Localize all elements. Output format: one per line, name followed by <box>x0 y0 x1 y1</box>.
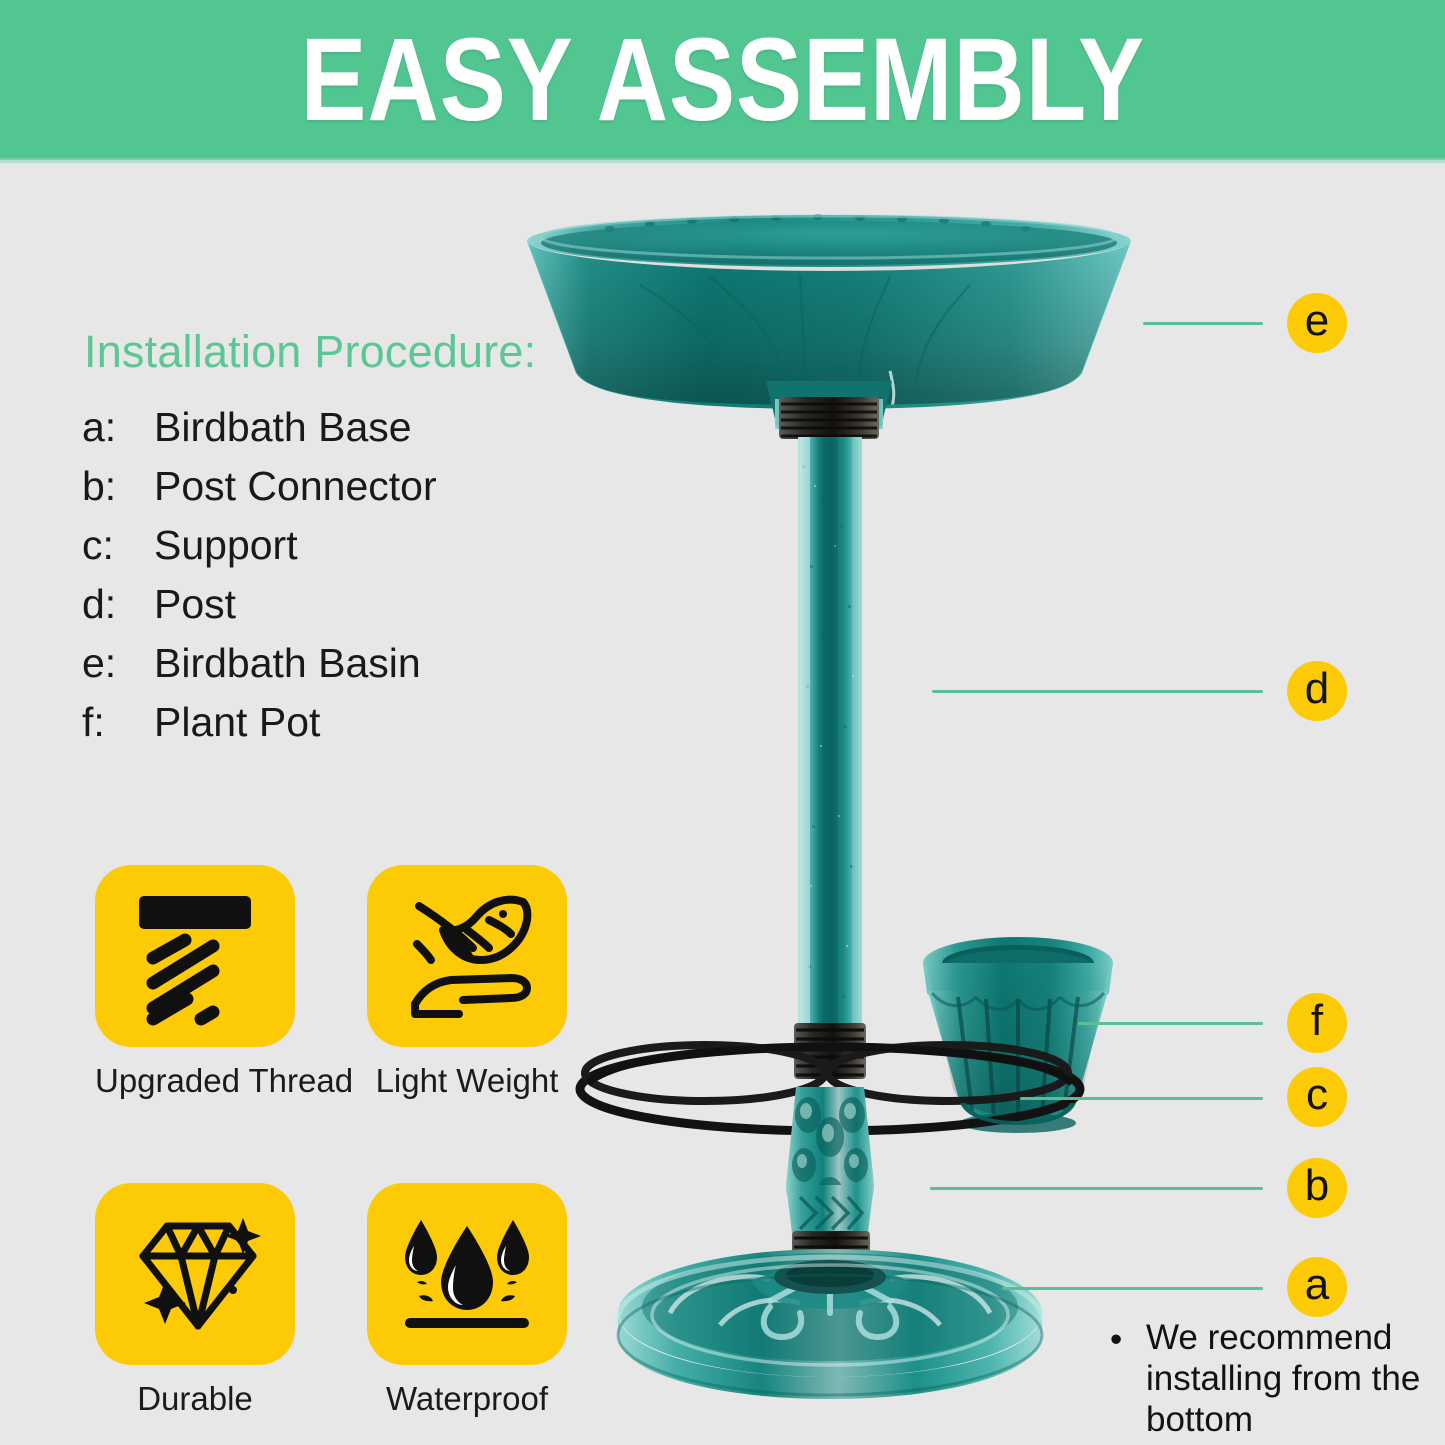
callout-badge-e[interactable]: e <box>1287 293 1347 353</box>
callout-line-f <box>1078 1022 1263 1025</box>
feature-label: Durable <box>95 1380 295 1418</box>
procedure-key: d: <box>82 581 154 628</box>
infographic-canvas: EASY ASSEMBLY Installation Procedure: a:… <box>0 0 1445 1445</box>
callout-line-a <box>1002 1287 1263 1290</box>
callout-line-d <box>932 690 1263 693</box>
product-illustration <box>470 185 1190 1400</box>
procedure-key: b: <box>82 463 154 510</box>
installation-procedure-heading: Installation Procedure: <box>84 326 536 378</box>
procedure-key: e: <box>82 640 154 687</box>
callout-line-c <box>1020 1097 1263 1100</box>
callout-line-e <box>1143 322 1263 325</box>
recommendation-note: • We recommend installing from the botto… <box>1110 1318 1430 1441</box>
feature-durable: Durable <box>95 1183 295 1418</box>
screw-thread-icon <box>125 886 265 1026</box>
header-banner: EASY ASSEMBLY <box>0 0 1445 160</box>
callout-badge-a[interactable]: a <box>1287 1257 1347 1317</box>
feature-upgraded-thread: Upgraded Thread <box>95 865 295 1100</box>
diamond-icon <box>125 1204 265 1344</box>
feature-label: Upgraded Thread <box>95 1062 295 1100</box>
callout-badge-c[interactable]: c <box>1287 1067 1347 1127</box>
bullet-icon: • <box>1110 1320 1122 1361</box>
callout-line-b <box>930 1187 1263 1190</box>
procedure-label: Birdbath Basin <box>154 640 421 687</box>
procedure-key: c: <box>82 522 154 569</box>
callout-badge-d[interactable]: d <box>1287 661 1347 721</box>
procedure-label: Plant Pot <box>154 699 320 746</box>
callout-badge-b[interactable]: b <box>1287 1158 1347 1218</box>
procedure-key: a: <box>82 404 154 451</box>
procedure-label: Post Connector <box>154 463 437 510</box>
recommendation-text: We recommend installing from the bottom <box>1146 1318 1430 1441</box>
procedure-label: Post <box>154 581 236 628</box>
feature-tile <box>95 1183 295 1365</box>
page-title: EASY ASSEMBLY <box>300 21 1145 139</box>
birdbath-assembly-graphic <box>470 185 1190 1400</box>
callout-badge-f[interactable]: f <box>1287 993 1347 1053</box>
procedure-key: f: <box>82 699 154 746</box>
feature-tile <box>95 865 295 1047</box>
procedure-label: Birdbath Base <box>154 404 412 451</box>
banner-bottom-edge <box>0 158 1445 163</box>
procedure-label: Support <box>154 522 298 569</box>
